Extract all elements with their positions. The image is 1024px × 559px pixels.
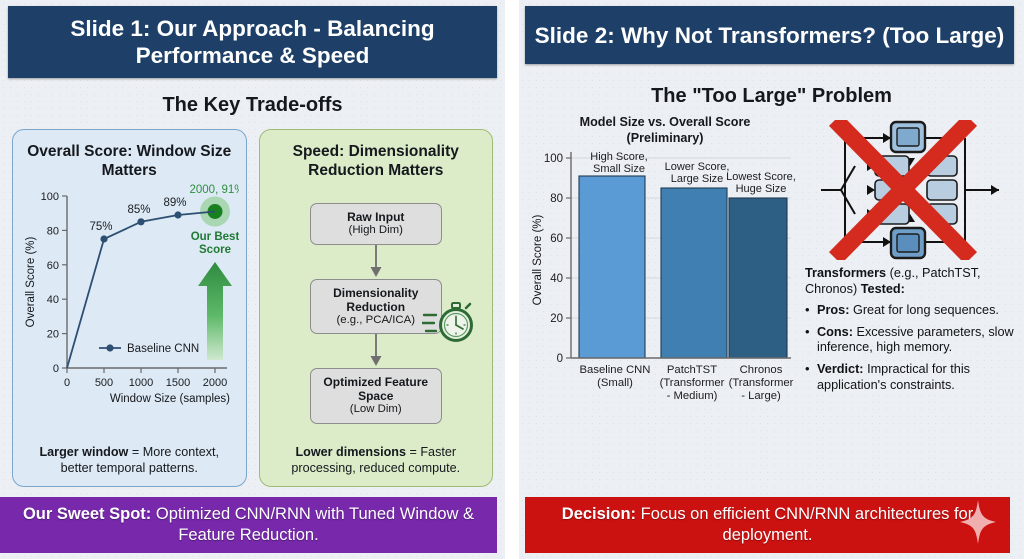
slide-1-section-title: The Key Trade-offs bbox=[0, 94, 505, 117]
svg-text:80: 80 bbox=[47, 225, 59, 237]
svg-text:500: 500 bbox=[95, 377, 113, 389]
slide-2-header: Slide 2: Why Not Transformers? (Too Larg… bbox=[525, 6, 1014, 64]
flow-node-raw-input-title: Raw Input bbox=[315, 210, 437, 224]
svg-text:20: 20 bbox=[550, 313, 563, 325]
panel-dimensionality: Speed: Dimensionality Reduction Matters … bbox=[259, 129, 494, 487]
slide-1-banner-rest: Optimized CNN/RNN with Tuned Window & Fe… bbox=[151, 505, 474, 544]
slide-2-right-column: Transformers (e.g., PatchTST, Chronos) T… bbox=[797, 112, 1014, 489]
slide-1-banner: Our Sweet Spot: Optimized CNN/RNN with T… bbox=[0, 497, 497, 553]
svg-text:Huge Size: Huge Size bbox=[736, 183, 787, 195]
list-item: Cons: Excessive parameters, slow inferen… bbox=[805, 325, 1014, 356]
slide-2-banner-rest: Focus on efficient CNN/RNN architectures… bbox=[636, 505, 973, 544]
svg-text:100: 100 bbox=[544, 153, 563, 165]
flow-node-dim-reduction-title: Dimensionality Reduction bbox=[315, 286, 437, 314]
bar-baseline-cnn bbox=[579, 176, 645, 358]
dimensionality-flow-diagram: Raw Input (High Dim) Dimensionalit bbox=[268, 182, 485, 443]
bullet-cons-label: Cons: bbox=[817, 325, 853, 339]
slide-1-header: Slide 1: Our Approach - Balancing Perfor… bbox=[8, 6, 497, 78]
svg-text:40: 40 bbox=[550, 273, 563, 285]
svg-text:40: 40 bbox=[47, 294, 59, 306]
panel-window-size: Overall Score: Window Size Matters bbox=[12, 129, 247, 487]
line-chart-svg: 0 20 40 60 80 100 bbox=[21, 182, 239, 412]
panel-dimensionality-footer: Lower dimensions = Faster processing, re… bbox=[268, 441, 485, 480]
crossed-out-transformer-icon bbox=[815, 120, 1005, 260]
svg-text:1500: 1500 bbox=[166, 377, 190, 389]
bar-chart-area: Model Size vs. Overall Score (Preliminar… bbox=[525, 112, 797, 489]
slide-1: Slide 1: Our Approach - Balancing Perfor… bbox=[0, 0, 505, 559]
svg-text:Lowest Score,: Lowest Score, bbox=[726, 171, 796, 183]
svg-text:Our Best: Our Best bbox=[191, 231, 239, 243]
flow-arrow-1-icon bbox=[369, 245, 383, 279]
overall-score-line-chart: 0 20 40 60 80 100 bbox=[21, 182, 238, 441]
transformers-lead-bold: Transformers bbox=[805, 266, 886, 280]
svg-text:(Small): (Small) bbox=[597, 377, 633, 389]
panel-window-size-footer-bold: Larger window bbox=[39, 445, 128, 459]
slide-1-banner-bold: Our Sweet Spot: bbox=[23, 505, 151, 523]
panel-dimensionality-footer-bold: Lower dimensions bbox=[295, 445, 406, 459]
slide-2: Slide 2: Why Not Transformers? (Too Larg… bbox=[519, 0, 1024, 559]
flow-node-optimized-title: Optimized Feature Space bbox=[315, 375, 437, 403]
sparkle-icon bbox=[960, 500, 996, 550]
svg-text:Overall Score (%): Overall Score (%) bbox=[25, 236, 37, 327]
bar-chart-svg: Model Size vs. Overall Score (Preliminar… bbox=[525, 112, 797, 412]
flow-arrow-2-icon bbox=[369, 334, 383, 368]
bullet-verdict-label: Verdict: bbox=[817, 362, 864, 376]
svg-text:Score: Score bbox=[199, 244, 231, 256]
svg-text:Chronos: Chronos bbox=[740, 364, 783, 376]
svg-text:1000: 1000 bbox=[129, 377, 153, 389]
transformers-lead: Transformers (e.g., PatchTST, Chronos) T… bbox=[805, 266, 1014, 297]
stopwatch-icon bbox=[422, 299, 478, 356]
bar-chronos bbox=[729, 198, 787, 358]
list-item: Pros: Great for long sequences. bbox=[805, 303, 1014, 319]
transformers-bullet-list: Pros: Great for long sequences. Cons: Ex… bbox=[805, 303, 1014, 393]
flow-node-raw-input-sub: (High Dim) bbox=[315, 224, 437, 238]
svg-text:High Score,: High Score, bbox=[590, 151, 647, 163]
svg-text:Lower Score,: Lower Score, bbox=[665, 161, 730, 173]
svg-text:Overall Score (%): Overall Score (%) bbox=[532, 214, 544, 305]
slide-2-content: Model Size vs. Overall Score (Preliminar… bbox=[519, 108, 1024, 489]
slide-2-banner: Decision: Focus on efficient CNN/RNN arc… bbox=[525, 497, 1010, 553]
flow-diagram-area: Raw Input (High Dim) Dimensionalit bbox=[268, 182, 485, 441]
transformers-lead-bold2: Tested: bbox=[861, 282, 905, 296]
line-chart-legend: Baseline CNN bbox=[99, 343, 199, 355]
svg-text:0: 0 bbox=[557, 353, 563, 365]
svg-text:PatchTST: PatchTST bbox=[667, 364, 717, 376]
svg-text:Model Size vs. Overall Score: Model Size vs. Overall Score bbox=[580, 115, 751, 129]
svg-text:2000, 91%: 2000, 91% bbox=[190, 184, 240, 196]
bar-patchtst bbox=[661, 188, 727, 358]
svg-text:(Preliminary): (Preliminary) bbox=[627, 131, 704, 145]
bullet-pros-label: Pros: bbox=[817, 303, 849, 317]
svg-text:89%: 89% bbox=[163, 197, 186, 209]
svg-text:Baseline CNN: Baseline CNN bbox=[580, 364, 651, 376]
svg-text:2000: 2000 bbox=[203, 377, 227, 389]
panel-window-size-footer: Larger window = More context, better tem… bbox=[21, 441, 238, 480]
line-chart-area: 0 20 40 60 80 100 bbox=[21, 182, 238, 441]
svg-text:Baseline CNN: Baseline CNN bbox=[127, 343, 199, 355]
model-size-bar-chart: Model Size vs. Overall Score (Preliminar… bbox=[525, 112, 797, 412]
flow-node-optimized-sub: (Low Dim) bbox=[315, 403, 437, 417]
flow-node-dim-reduction-sub: (e.g., PCA/ICA) bbox=[315, 314, 437, 328]
bullet-pros-text: Great for long sequences. bbox=[849, 303, 999, 317]
transformers-text-block: Transformers (e.g., PatchTST, Chronos) T… bbox=[805, 266, 1014, 393]
svg-text:75%: 75% bbox=[89, 221, 112, 233]
svg-text:Small Size: Small Size bbox=[593, 163, 645, 175]
slide-1-panels: Overall Score: Window Size Matters bbox=[0, 117, 505, 487]
list-item: Verdict: Impractical for this applicatio… bbox=[805, 362, 1014, 393]
svg-text:0: 0 bbox=[64, 377, 70, 389]
svg-text:85%: 85% bbox=[127, 204, 150, 216]
svg-text:60: 60 bbox=[550, 233, 563, 245]
svg-text:80: 80 bbox=[550, 193, 563, 205]
panel-dimensionality-title: Speed: Dimensionality Reduction Matters bbox=[268, 142, 485, 180]
svg-text:20: 20 bbox=[47, 329, 59, 341]
svg-text:(Transformer: (Transformer bbox=[729, 377, 794, 389]
slide-2-banner-bold: Decision: bbox=[562, 505, 636, 523]
flow-node-optimized: Optimized Feature Space (Low Dim) bbox=[310, 368, 442, 424]
svg-text:100: 100 bbox=[41, 191, 59, 203]
panel-window-size-title: Overall Score: Window Size Matters bbox=[21, 142, 238, 180]
flow-node-raw-input: Raw Input (High Dim) bbox=[310, 203, 442, 245]
svg-text:- Large): - Large) bbox=[741, 390, 781, 402]
svg-text:Large Size: Large Size bbox=[671, 173, 724, 185]
svg-text:Window Size (samples): Window Size (samples) bbox=[110, 393, 230, 405]
svg-text:60: 60 bbox=[47, 260, 59, 272]
svg-text:0: 0 bbox=[53, 363, 59, 375]
svg-text:- Medium): - Medium) bbox=[667, 390, 718, 402]
slide-2-section-title: The "Too Large" Problem bbox=[519, 85, 1024, 108]
svg-text:(Transformer: (Transformer bbox=[660, 377, 725, 389]
two-slide-deck: Slide 1: Our Approach - Balancing Perfor… bbox=[0, 0, 1024, 559]
